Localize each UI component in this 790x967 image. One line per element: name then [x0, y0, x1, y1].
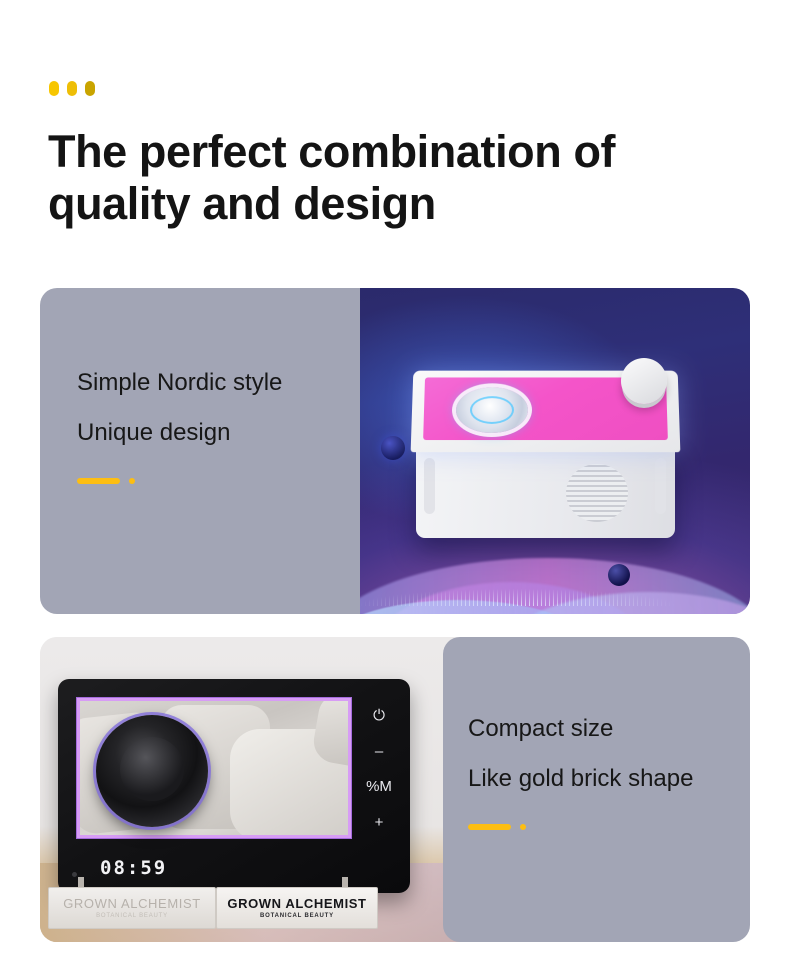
- nordic-style-accent: [77, 478, 135, 484]
- projector-product-image: [345, 288, 750, 614]
- accent-bar-icon: [468, 824, 511, 830]
- product-box-right-tagline: BOTANICAL BEAUTY: [260, 913, 334, 919]
- bedroom-projector-image: ⏻ – %M + 08:59 GROWN ALCHEMIST BOTANICAL…: [40, 637, 490, 942]
- clock-display: 08:59: [100, 857, 167, 879]
- device-lens: [96, 715, 208, 827]
- product-box-stack: GROWN ALCHEMIST BOTANICAL BEAUTY GROWN A…: [48, 887, 378, 931]
- compact-size-title-line-1: Compact size: [468, 714, 613, 744]
- product-box-left-tagline: BOTANICAL BEAUTY: [96, 913, 168, 919]
- decorative-orb-small: [608, 564, 630, 586]
- device-control-panel: ⏻ – %M +: [358, 703, 400, 835]
- wave-dot-lines: [361, 586, 734, 606]
- compact-size-title-line-2: Like gold brick shape: [468, 764, 693, 794]
- nordic-style-title-line-2: Unique design: [77, 418, 230, 448]
- projector-focus-knob: [621, 358, 667, 404]
- projector-illustration: [412, 370, 679, 540]
- accent-dot-icon: [129, 478, 135, 484]
- projector-lens: [456, 387, 529, 433]
- product-box-left-brand: GROWN ALCHEMIST: [63, 897, 201, 911]
- projector-vent-right: [655, 458, 666, 514]
- nordic-style-title-line-1: Simple Nordic style: [77, 368, 282, 398]
- accent-bar-icon: [77, 478, 120, 484]
- decorative-dot-3: [85, 81, 95, 96]
- compact-size-text-panel: Compact size Like gold brick shape: [443, 637, 750, 942]
- page-title-line-2: quality and design: [48, 178, 748, 230]
- product-box-right: GROWN ALCHEMIST BOTANICAL BEAUTY: [216, 887, 378, 929]
- feature-card-nordic-style: Simple Nordic style Unique design: [40, 288, 750, 614]
- power-icon[interactable]: ⏻: [373, 708, 385, 723]
- compact-size-accent: [468, 824, 526, 830]
- nordic-style-text-panel: Simple Nordic style Unique design: [40, 288, 360, 614]
- feature-card-compact-size: ⏻ – %M + 08:59 GROWN ALCHEMIST BOTANICAL…: [40, 637, 750, 942]
- product-box-left: GROWN ALCHEMIST BOTANICAL BEAUTY: [48, 887, 216, 929]
- minus-icon[interactable]: –: [375, 744, 383, 759]
- mode-icon[interactable]: %M: [366, 779, 392, 794]
- product-feature-page: The perfect combination of quality and d…: [0, 0, 790, 967]
- accent-dot-icon: [520, 824, 526, 830]
- plus-icon[interactable]: +: [375, 815, 384, 830]
- indicator-led: [72, 872, 77, 877]
- projector-front-panel: [416, 446, 675, 538]
- page-title: The perfect combination of quality and d…: [48, 126, 748, 230]
- page-title-line-1: The perfect combination of: [48, 126, 615, 177]
- decorative-dots: [49, 81, 95, 96]
- decorative-dot-1: [49, 81, 59, 96]
- speaker-grille: [566, 464, 628, 522]
- decorative-dot-2: [67, 81, 77, 96]
- product-box-right-brand: GROWN ALCHEMIST: [227, 897, 366, 911]
- decorative-orb-large: [381, 436, 405, 460]
- projector-device-photo: ⏻ – %M + 08:59: [58, 679, 410, 893]
- projector-vent-left: [424, 458, 435, 514]
